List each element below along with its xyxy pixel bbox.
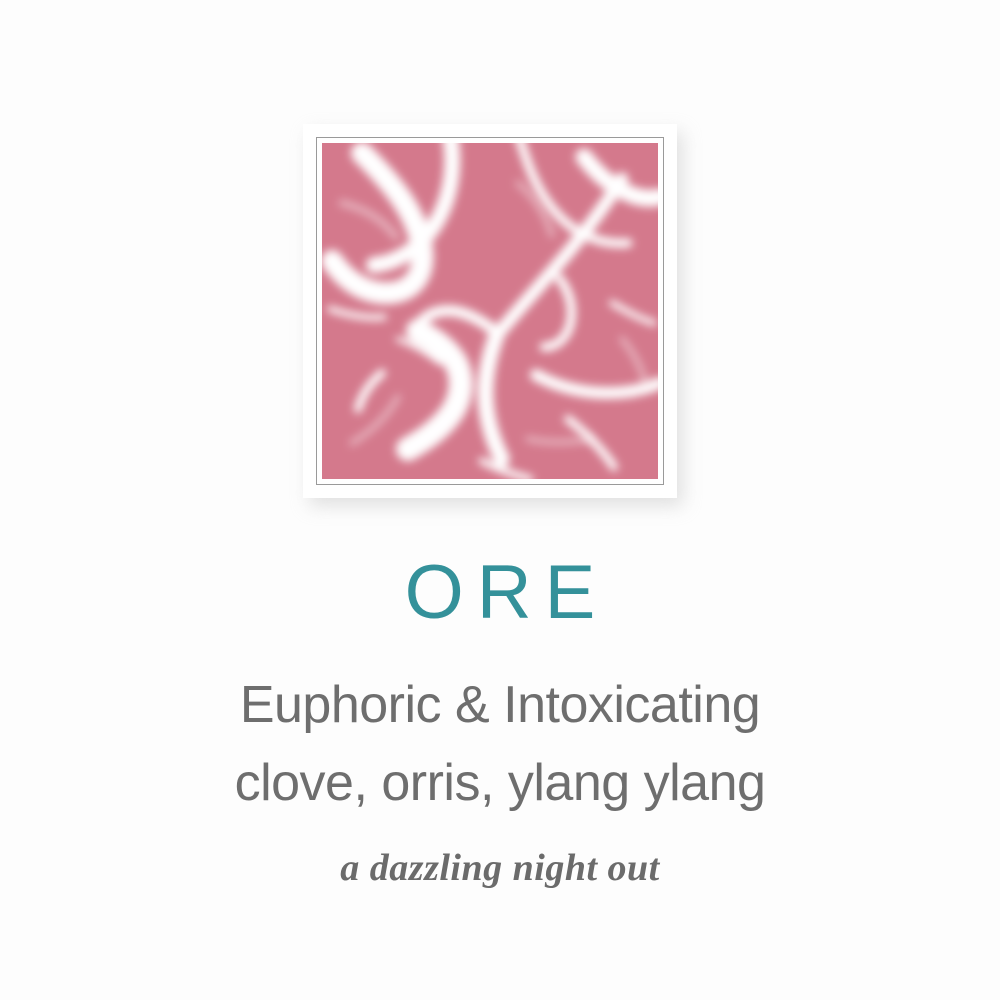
artwork-frame-inner-border (316, 137, 664, 485)
artwork-frame (303, 124, 677, 498)
product-descriptor-mood: Euphoric & Intoxicating (0, 679, 1000, 731)
marble-swatch-image (322, 143, 658, 479)
product-tagline: a dazzling night out (0, 849, 1000, 887)
product-text-block: ORE Euphoric & Intoxicating clove, orris… (0, 555, 1000, 887)
product-descriptor-notes: clove, orris, ylang ylang (0, 757, 1000, 809)
product-card: ORE Euphoric & Intoxicating clove, orris… (0, 0, 1000, 1000)
framed-artwork (303, 124, 677, 498)
product-title: ORE (0, 555, 1000, 631)
